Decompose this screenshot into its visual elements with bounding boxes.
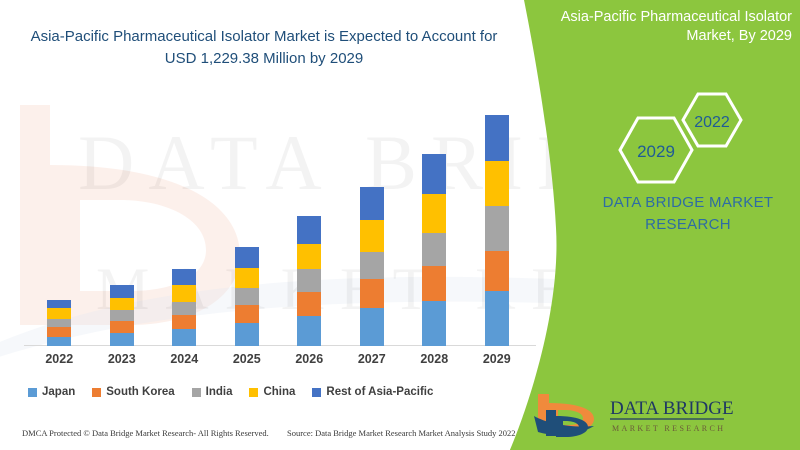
legend-swatch-icon bbox=[28, 388, 37, 397]
bar-segment bbox=[297, 216, 321, 243]
bar-segment bbox=[485, 115, 509, 160]
legend-item[interactable]: South Korea bbox=[92, 386, 174, 398]
bar-segment bbox=[172, 269, 196, 285]
legend-label: Rest of Asia-Pacific bbox=[326, 386, 433, 398]
legend-label: South Korea bbox=[106, 386, 174, 398]
legend-label: India bbox=[206, 386, 233, 398]
hexagon-2029-label: 2029 bbox=[637, 142, 675, 161]
bar-segment bbox=[235, 323, 259, 346]
bar-segment bbox=[422, 233, 446, 265]
chart-legend: JapanSouth KoreaIndiaChinaRest of Asia-P… bbox=[28, 382, 528, 402]
bar-segment bbox=[360, 308, 384, 346]
bar-column bbox=[297, 216, 321, 346]
bar-segment bbox=[110, 333, 134, 346]
x-axis-tick-label: 2023 bbox=[92, 352, 152, 366]
bar-segment bbox=[235, 305, 259, 323]
hexagon-2022-label: 2022 bbox=[694, 114, 730, 131]
legend-item[interactable]: India bbox=[192, 386, 233, 398]
legend-swatch-icon bbox=[192, 388, 201, 397]
legend-label: Japan bbox=[42, 386, 75, 398]
bar-segment bbox=[110, 321, 134, 332]
bar-column bbox=[422, 154, 446, 346]
footer: DMCA Protected © Data Bridge Market Rese… bbox=[22, 428, 522, 444]
legend-item[interactable]: Rest of Asia-Pacific bbox=[312, 386, 433, 398]
legend-label: China bbox=[263, 386, 295, 398]
x-axis-tick-label: 2028 bbox=[404, 352, 464, 366]
bar-segment bbox=[235, 247, 259, 268]
legend-swatch-icon bbox=[312, 388, 321, 397]
x-axis-labels: 20222023202420252026202720282029 bbox=[28, 352, 528, 374]
footer-source: Source: Data Bridge Market Research Mark… bbox=[287, 428, 516, 438]
bar-segment bbox=[360, 252, 384, 278]
x-axis-tick-label: 2024 bbox=[154, 352, 214, 366]
x-axis-tick-label: 2026 bbox=[279, 352, 339, 366]
x-axis-tick-label: 2022 bbox=[29, 352, 89, 366]
bar-segment bbox=[110, 310, 134, 321]
bar-segment bbox=[297, 292, 321, 316]
legend-swatch-icon bbox=[92, 388, 101, 397]
bar-segment bbox=[297, 269, 321, 292]
bar-column bbox=[485, 115, 509, 346]
bar-segment bbox=[47, 319, 71, 328]
bar-column bbox=[172, 269, 196, 346]
bar-segment bbox=[422, 194, 446, 234]
bar-segment bbox=[110, 285, 134, 297]
bar-column bbox=[235, 247, 259, 346]
bar-segment bbox=[485, 291, 509, 346]
bar-segment bbox=[172, 302, 196, 315]
bar-segment bbox=[235, 288, 259, 305]
x-axis-tick-label: 2027 bbox=[342, 352, 402, 366]
bar-column bbox=[47, 300, 71, 346]
legend-item[interactable]: Japan bbox=[28, 386, 75, 398]
x-axis-tick-label: 2029 bbox=[467, 352, 527, 366]
bar-segment bbox=[47, 308, 71, 318]
logo-mark-icon bbox=[534, 394, 594, 437]
bar-segment bbox=[47, 327, 71, 336]
brand-panel-name: DATA BRIDGE MARKET RESEARCH bbox=[588, 192, 788, 236]
bar-segment bbox=[360, 220, 384, 252]
brand-panel: Asia-Pacific Pharmaceutical Isolator Mar… bbox=[510, 0, 800, 450]
bar-segment bbox=[297, 244, 321, 270]
bar-segment bbox=[422, 154, 446, 194]
infographic-root: DATA BRIDGE MARKET RESEARCH Asia-Pacific… bbox=[0, 0, 800, 450]
bar-segment bbox=[360, 187, 384, 220]
bar-column bbox=[110, 285, 134, 346]
logo-tagline: MARKET RESEARCH bbox=[612, 424, 725, 433]
brand-panel-title: Asia-Pacific Pharmaceutical Isolator Mar… bbox=[536, 8, 792, 46]
data-bridge-logo: DATA BRIDGE MARKET RESEARCH bbox=[532, 390, 752, 440]
bar-segment bbox=[172, 315, 196, 329]
bar-segment bbox=[360, 279, 384, 308]
bar-column bbox=[360, 187, 384, 346]
bar-segment bbox=[422, 266, 446, 301]
hexagon-group: 2022 2029 bbox=[598, 86, 788, 206]
bar-segment bbox=[235, 268, 259, 289]
legend-item[interactable]: China bbox=[249, 386, 295, 398]
bar-segment bbox=[110, 298, 134, 310]
x-axis-tick-label: 2025 bbox=[217, 352, 277, 366]
bar-segment bbox=[485, 251, 509, 291]
page-title: Asia-Pacific Pharmaceutical Isolator Mar… bbox=[24, 26, 504, 70]
logo-title: DATA BRIDGE bbox=[610, 398, 734, 419]
bar-segment bbox=[422, 301, 446, 346]
bar-segment bbox=[47, 300, 71, 309]
stacked-bar-chart bbox=[28, 100, 528, 346]
bar-segment bbox=[485, 161, 509, 206]
legend-swatch-icon bbox=[249, 388, 258, 397]
footer-copyright: DMCA Protected © Data Bridge Market Rese… bbox=[22, 428, 269, 438]
bar-segment bbox=[172, 329, 196, 346]
bar-segment bbox=[485, 206, 509, 251]
bar-segment bbox=[47, 337, 71, 346]
bar-segment bbox=[172, 285, 196, 301]
bar-segment bbox=[297, 316, 321, 346]
